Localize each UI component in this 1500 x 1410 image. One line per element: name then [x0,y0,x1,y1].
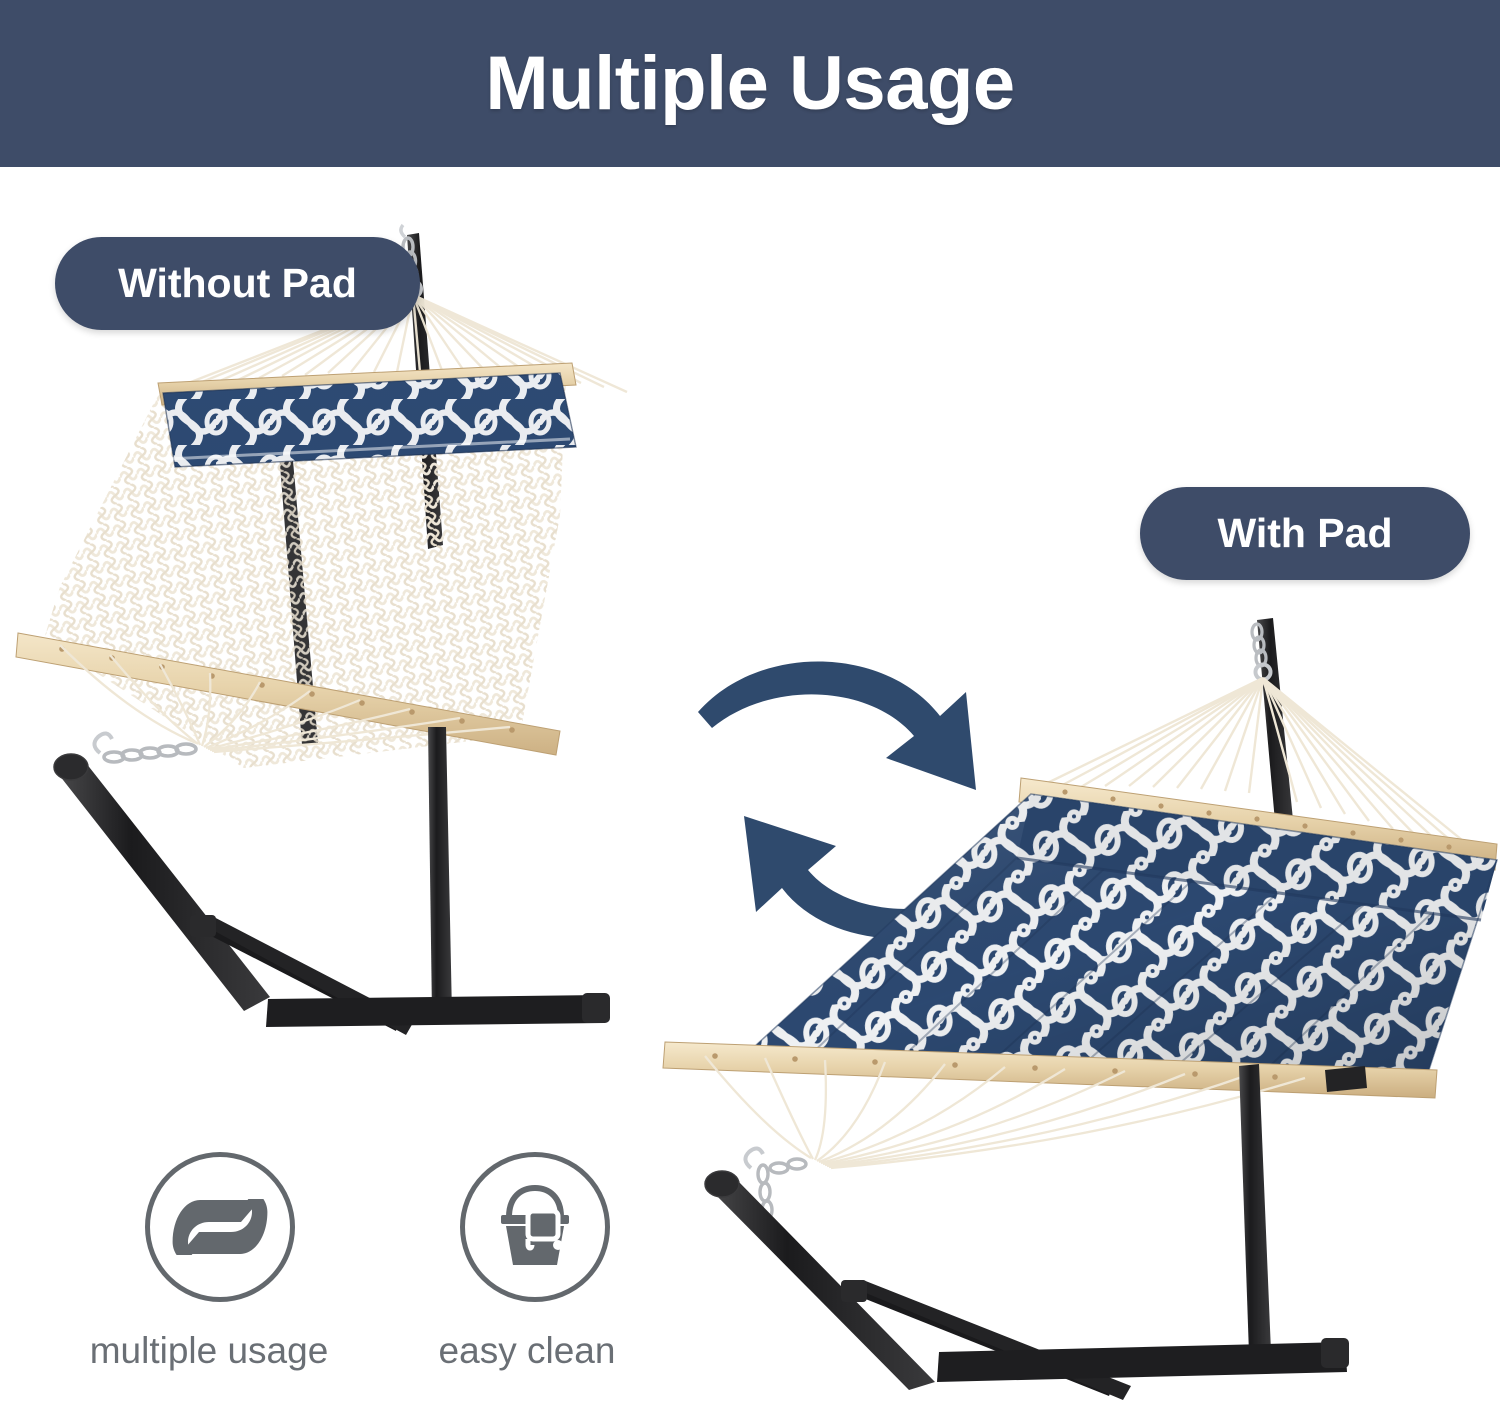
infographic-page: Multiple Usage [0,0,1500,1410]
feature-list: multiple usage [105,1152,705,1402]
feature-icon-circle [145,1152,295,1302]
feature-easy-clean: easy clean [420,1152,650,1372]
bucket-clean-icon [487,1179,583,1275]
rope-hammock-with-pad-illustration [645,590,1500,1390]
badge-with-pad-label: With Pad [1217,510,1392,557]
suspension-chain-left [94,733,196,762]
header-band: Multiple Usage [0,0,1500,167]
feature-multiple-usage: multiple usage [105,1152,335,1372]
badge-without-pad-label: Without Pad [118,260,357,307]
feature-label-easy-clean: easy clean [404,1330,650,1372]
feature-label-multiple-usage: multiple usage [83,1330,335,1372]
feature-icon-circle [460,1152,610,1302]
badge-with-pad: With Pad [1140,487,1470,580]
product-image-with-pad [645,590,1500,1390]
hammock-stand-left [54,727,610,1035]
hammock-stand-right [705,1064,1367,1400]
recycle-loop-icon [167,1184,273,1270]
page-title: Multiple Usage [485,46,1014,122]
badge-without-pad: Without Pad [55,237,420,330]
